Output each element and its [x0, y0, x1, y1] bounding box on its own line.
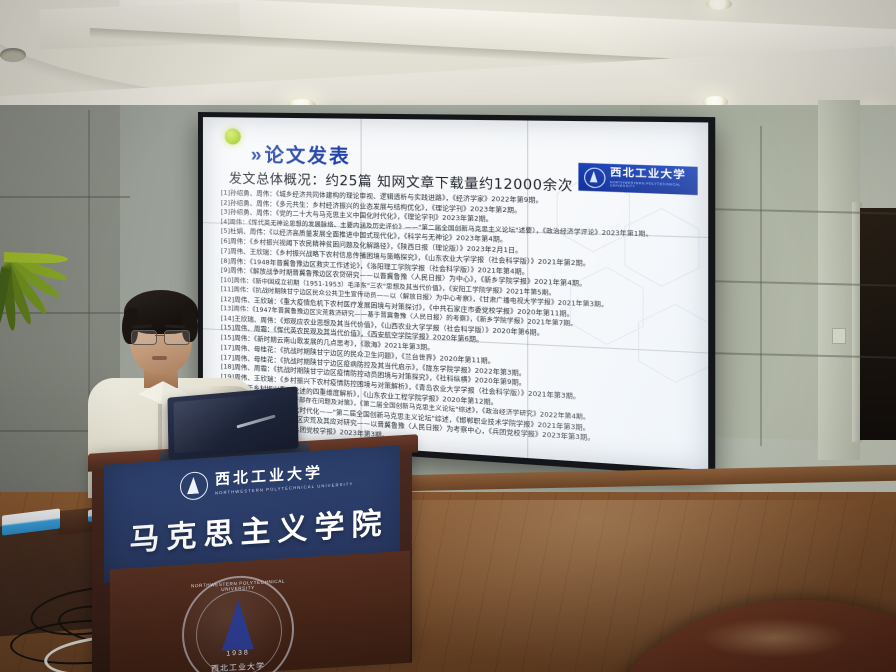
- eyeglasses-icon: [131, 330, 193, 343]
- glasses-lens: [164, 330, 190, 345]
- laptop[interactable]: [167, 386, 298, 459]
- wall-panel-seam: [760, 126, 762, 446]
- npu-logo-en: NORTHWESTERN POLYTECHNICAL UNIVERSITY: [610, 181, 692, 191]
- ceiling-vent: [0, 48, 26, 62]
- podium-university-lockup: 西北工业大学 NORTHWESTERN POLYTECHNICAL UNIVER…: [180, 461, 353, 501]
- doorway[interactable]: [860, 208, 896, 440]
- double-chevron-icon: »: [251, 146, 259, 165]
- npu-emblem-icon: [584, 167, 605, 188]
- slide-title: 论文发表: [265, 140, 351, 169]
- glasses-lens: [131, 330, 157, 345]
- podium-school-name: 马克思主义学院: [124, 498, 394, 560]
- podium-emblem: NORTHWESTERN POLYTECHNICAL UNIVERSITY 19…: [182, 573, 294, 672]
- conference-room-photo: 西北工业大学 NORTHWESTERN POLYTECHNICAL UNIVER…: [0, 0, 896, 672]
- npu-emblem-icon: [180, 471, 208, 501]
- emblem-cn-text: 西北工业大学: [184, 659, 292, 672]
- wall-outlet[interactable]: [832, 328, 846, 344]
- slide-number-badge: [225, 128, 241, 144]
- table-reflection: [700, 618, 850, 658]
- npu-logo-banner: 西北工业大学 NORTHWESTERN POLYTECHNICAL UNIVER…: [578, 163, 697, 195]
- wall-panel-seam: [0, 196, 130, 198]
- presenter-mouth: [152, 356, 167, 360]
